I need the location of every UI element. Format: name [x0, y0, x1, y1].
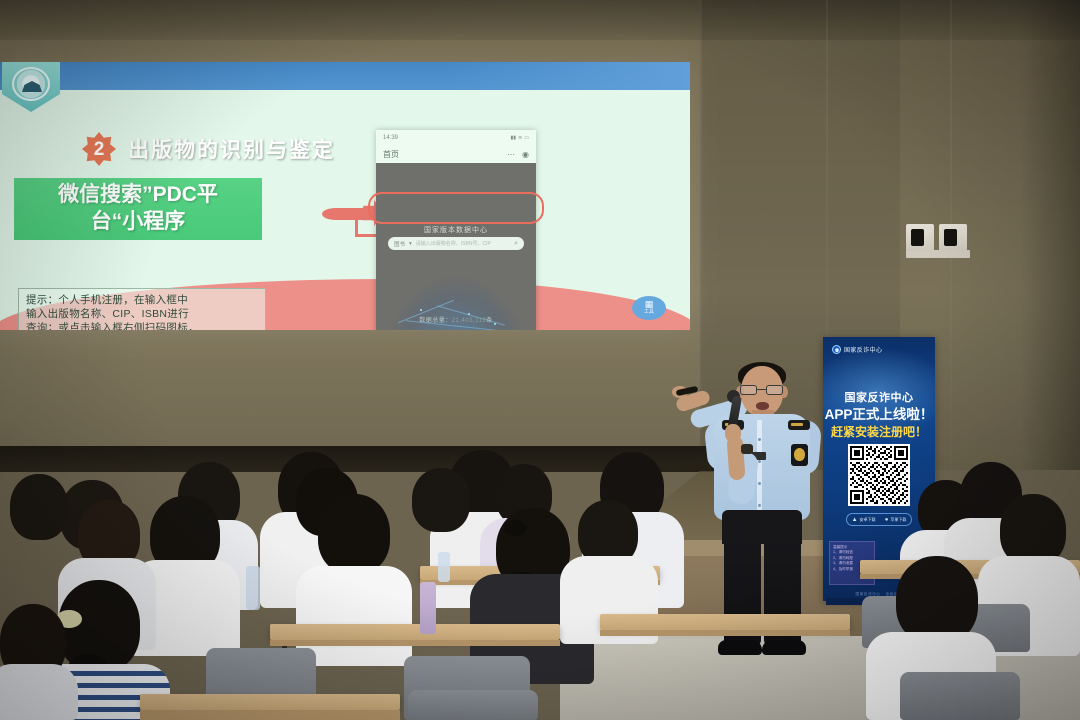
search-input[interactable]: 图书 ▾ 请输入出版物名称、ISBN号、CIP ⌕: [388, 237, 524, 250]
emblem-inner-icon: [12, 67, 50, 101]
search-icon[interactable]: ⌕: [514, 240, 518, 248]
wristwatch: [741, 444, 753, 454]
hint-line-2: 输入出版物名称、CIP、ISBN进行: [26, 308, 258, 322]
audience-desk: [600, 614, 850, 630]
phone-result-count: 数据总量：21,403,112条: [376, 315, 536, 324]
banner-line-2: APP正式上线啦！: [823, 403, 935, 423]
lecture-hall-scene: 2 出版物的识别与鉴定 微信搜索”PDC平 台“小程序 提示：个人手机注册，在输…: [0, 0, 1080, 720]
glasses-lens: [766, 385, 783, 395]
apple-icon: ●: [885, 517, 889, 523]
eyeglasses-icon: [740, 385, 784, 395]
green-title-line1: 微信搜索”PDC平: [58, 182, 218, 209]
desk-edge: [270, 640, 560, 646]
speaker-shoe-left: [718, 640, 762, 655]
result-count-unit: 条: [486, 318, 493, 324]
audience-desk: [140, 694, 400, 710]
phone-screen: 国家版本数据中心 图书 ▾ 请输入出版物名称、ISBN号、CIP ⌕ 数据总量：…: [376, 163, 536, 330]
phone-center-title: 国家版本数据中心: [376, 225, 536, 235]
shirt-button: [758, 438, 761, 441]
shirt-button: [758, 460, 761, 463]
shield-badge-icon: [832, 345, 841, 354]
wall-corner-shadow: [1020, 0, 1080, 470]
banner-logo-text: 国家反诈中心: [844, 345, 882, 354]
status-time: 14:39: [383, 135, 398, 141]
ios-download-button[interactable]: ● 苹果下载: [885, 517, 907, 523]
download-buttons-group[interactable]: ▲ 安卓下载 ● 苹果下载: [846, 513, 912, 526]
audience-body: [0, 664, 78, 720]
desk-edge: [600, 630, 850, 636]
glasses-lens: [740, 385, 757, 395]
shirt-placket: [757, 420, 762, 516]
result-count-value: 21,403,112: [452, 318, 487, 324]
speaker-left-hand: [725, 424, 741, 442]
status-icons: ▮▮ ≋ ▭: [511, 135, 529, 141]
globe-node: [420, 309, 422, 311]
phone-nav-title: 首页: [383, 149, 399, 160]
arrow-tail: [322, 208, 368, 220]
android-download-button[interactable]: ▲ 安卓下载: [852, 517, 876, 523]
audience-head: [10, 474, 68, 540]
phone-nav-bar: 首页 ⋯ ◉: [376, 145, 536, 163]
qr-code-icon: [848, 444, 910, 506]
projected-slide: 2 出版物的识别与鉴定 微信搜索”PDC平 台“小程序 提示：个人手机注册，在输…: [0, 62, 690, 330]
phone-nav-actions[interactable]: ⋯ ◉: [507, 150, 529, 159]
shoulder-patch: [791, 444, 808, 466]
water-bottle: [420, 582, 436, 634]
shirt-button: [758, 504, 761, 507]
phone-mockup: 14:39 ▮▮ ≋ ▭ 首页 ⋯ ◉: [376, 130, 536, 330]
android-icon: ▲: [852, 517, 858, 523]
water-bottle: [438, 552, 450, 582]
speaker-shoe-right: [762, 640, 806, 655]
audience-desk: [270, 624, 560, 640]
slide-section-title: 出版物的识别与鉴定: [128, 134, 335, 164]
slide-green-title-box: 微信搜索”PDC平 台“小程序: [14, 178, 262, 240]
audience-chair: [900, 672, 1020, 720]
audience-chair: [408, 690, 538, 720]
epaulette-right: [788, 420, 810, 430]
slide-badge-number: 2: [82, 132, 116, 166]
slide-section-badge: 2: [82, 132, 116, 166]
audience-head: [896, 556, 978, 644]
chevron-down-icon[interactable]: ▾: [409, 241, 412, 247]
speaker-left-forearm: [726, 435, 745, 480]
corner-badge-label: 工具: [644, 310, 654, 316]
banner-logo: 国家反诈中心: [832, 345, 882, 354]
desk-edge: [140, 710, 400, 720]
signal-icon: ▮▮: [511, 135, 517, 141]
camera-unit: [939, 224, 967, 251]
camera-unit: [906, 224, 934, 251]
hint-line-3: 查询；或点击输入框右侧扫码图标，: [26, 322, 258, 330]
water-bottle: [246, 566, 260, 610]
camera-lens-icon: [911, 229, 924, 246]
ios-label: 苹果下载: [890, 517, 906, 523]
slide-corner-badge: ▦ 工具: [632, 296, 666, 320]
security-camera-icon: [906, 224, 970, 258]
result-count-label: 数据总量：: [419, 318, 452, 324]
wifi-icon: ≋: [518, 135, 522, 141]
audience-head: [412, 468, 470, 532]
more-dots-icon[interactable]: ⋯: [507, 150, 515, 159]
account-circle-icon[interactable]: ◉: [522, 150, 529, 159]
phone-status-bar: 14:39 ▮▮ ≋ ▭: [376, 130, 536, 145]
speaker-mouth: [756, 402, 769, 410]
green-title-line2: 台“小程序: [91, 209, 186, 236]
search-category-label[interactable]: 图书: [394, 240, 405, 248]
slide-hint-box: 提示：个人手机注册，在输入框中 输入出版物名称、CIP、ISBN进行 查询；或点…: [18, 288, 266, 330]
glasses-bridge: [757, 389, 766, 390]
banner-line-3: 赶紧安装注册吧！: [823, 423, 935, 440]
hint-line-1: 提示：个人手机注册，在输入框中: [26, 294, 258, 308]
search-placeholder: 请输入出版物名称、ISBN号、CIP: [416, 240, 510, 247]
camera-shelf: [906, 250, 970, 258]
shirt-button: [758, 482, 761, 485]
battery-icon: ▭: [524, 135, 529, 141]
android-label: 安卓下载: [860, 517, 876, 523]
slide-header-gradient: [450, 62, 690, 90]
arrow-connector-vertical: [355, 214, 358, 236]
camera-lens-icon: [944, 229, 957, 246]
hair-tie: [504, 520, 526, 536]
